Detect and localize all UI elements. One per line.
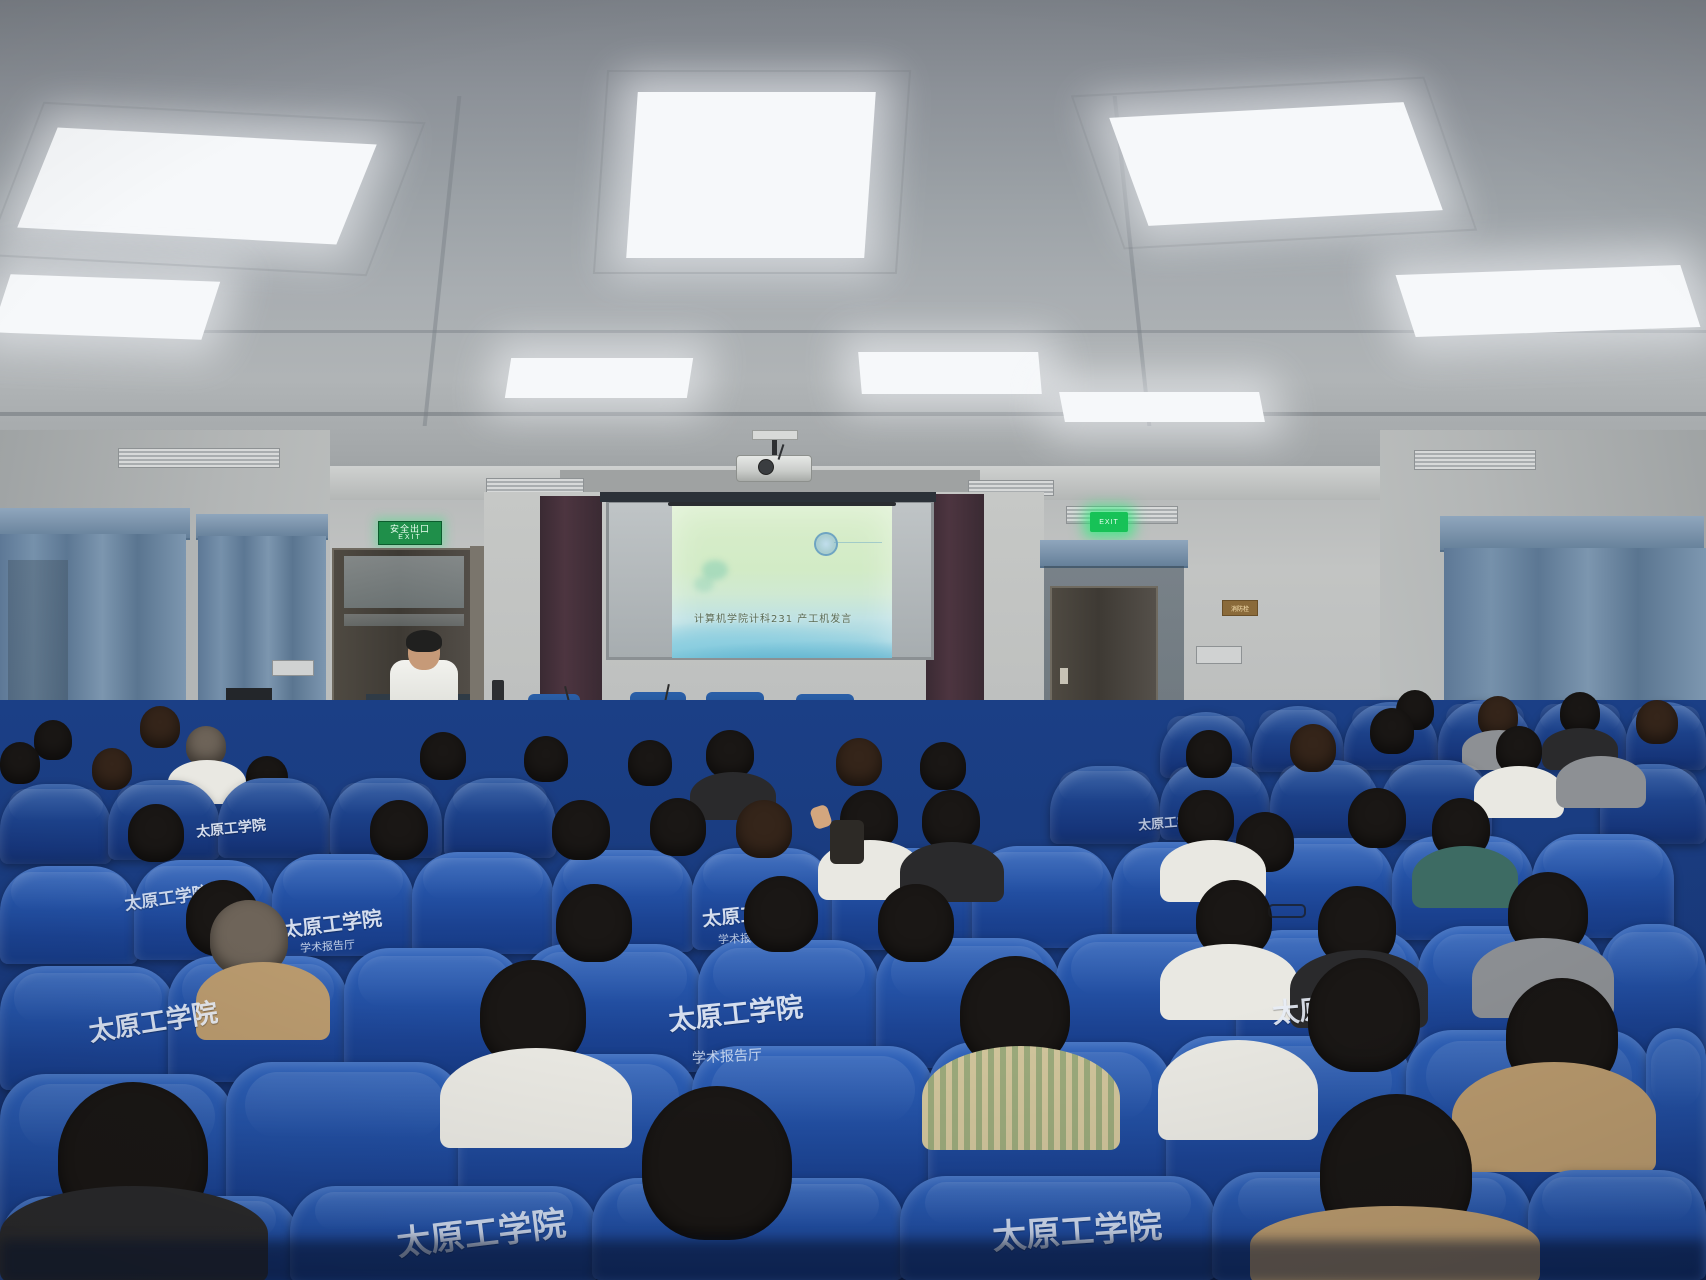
projector-ceiling-plate bbox=[752, 430, 798, 440]
window-pane bbox=[8, 560, 68, 720]
chair-sub-text: 学术报告厅 bbox=[692, 1044, 763, 1068]
audience-head bbox=[1348, 788, 1406, 848]
eyeglasses-icon bbox=[1268, 904, 1306, 918]
audience-head bbox=[420, 732, 466, 780]
audience-shoulders bbox=[1412, 846, 1518, 908]
plaque-label: 消防栓 bbox=[1231, 604, 1249, 613]
audience-head bbox=[650, 798, 706, 856]
audience-head bbox=[128, 804, 184, 862]
audience-head bbox=[836, 738, 882, 786]
audience-head bbox=[744, 876, 818, 952]
audience-head bbox=[1290, 724, 1336, 772]
ceiling-panel-frame bbox=[0, 102, 426, 276]
audience-shoulders bbox=[440, 1048, 632, 1148]
handbag bbox=[830, 820, 864, 864]
exit-sign-left: 安全出口 EXIT bbox=[378, 521, 442, 545]
audience-head bbox=[1308, 958, 1420, 1072]
ceiling-light-panel bbox=[0, 274, 220, 339]
projection-screen: 计算机学院计科231 产工机发言 bbox=[672, 506, 892, 658]
audience-head bbox=[524, 736, 568, 782]
audience-shoulders bbox=[1556, 756, 1646, 808]
chair bbox=[412, 852, 554, 954]
audience-shoulders bbox=[922, 1046, 1120, 1150]
audience-head bbox=[642, 1086, 792, 1240]
audience-head bbox=[370, 800, 428, 860]
whiteboard-rail bbox=[600, 492, 936, 502]
audience-head bbox=[878, 884, 954, 962]
audience-head bbox=[34, 720, 72, 760]
door-handle-icon bbox=[1060, 668, 1068, 684]
speaker-hair bbox=[406, 630, 442, 652]
chair bbox=[444, 778, 556, 858]
seating-shadow bbox=[0, 1240, 1706, 1280]
audience-head bbox=[922, 790, 980, 850]
exit-sign-en-label: EXIT bbox=[398, 534, 422, 541]
audience-head bbox=[0, 742, 40, 784]
slide-divider bbox=[834, 542, 882, 543]
window-valance bbox=[1040, 540, 1188, 568]
exit-sign-right: EXIT bbox=[1090, 512, 1128, 532]
audience-head bbox=[1370, 708, 1414, 754]
audience-head bbox=[556, 884, 632, 962]
audience-head bbox=[706, 730, 754, 778]
ceiling-panel-frame bbox=[1071, 77, 1478, 250]
wall-switch-panel bbox=[1196, 646, 1242, 664]
fire-hydrant-plaque: 消防栓 bbox=[1222, 600, 1258, 616]
air-vent bbox=[118, 448, 280, 468]
slide-decor-blob bbox=[694, 576, 714, 592]
audience-head bbox=[92, 748, 132, 790]
audience-head bbox=[140, 706, 180, 748]
ceiling-seam bbox=[0, 412, 1706, 416]
projector bbox=[736, 455, 812, 482]
audience-head bbox=[1636, 700, 1678, 744]
audience-head bbox=[920, 742, 966, 790]
university-seal-icon bbox=[814, 532, 838, 556]
ceiling-panel-frame bbox=[593, 70, 911, 274]
air-vent bbox=[1414, 450, 1536, 470]
ceiling-light-panel bbox=[1059, 392, 1265, 422]
stage-side-curtain-right bbox=[926, 494, 984, 734]
audience-shoulders bbox=[1474, 766, 1564, 818]
chair bbox=[0, 784, 112, 864]
ceiling-light-panel bbox=[858, 352, 1042, 394]
lecture-hall-photo: 安全出口 EXIT 计算机学院计科231 产工机发言 EXIT 消防栓 bbox=[0, 0, 1706, 1280]
door-window-left bbox=[344, 556, 464, 608]
audience-head bbox=[552, 800, 610, 860]
audience-shoulders bbox=[1158, 1040, 1318, 1140]
door-window-left bbox=[344, 614, 464, 626]
exit-sign-right-label: EXIT bbox=[1099, 519, 1119, 526]
slide-title: 计算机学院计科231 产工机发言 bbox=[694, 610, 852, 625]
chair bbox=[0, 866, 138, 964]
audience-shoulders bbox=[1452, 1062, 1656, 1172]
ceiling-light-panel bbox=[505, 358, 693, 398]
audience-head bbox=[736, 800, 792, 858]
ceiling-light-panel bbox=[1396, 265, 1701, 337]
audience-head bbox=[628, 740, 672, 786]
audience-head bbox=[1186, 730, 1232, 778]
exit-sign-cn-label: 安全出口 bbox=[390, 525, 430, 534]
projector-lens-icon bbox=[758, 459, 774, 475]
window-valance bbox=[1440, 516, 1704, 552]
wall-switch-panel bbox=[272, 660, 314, 676]
